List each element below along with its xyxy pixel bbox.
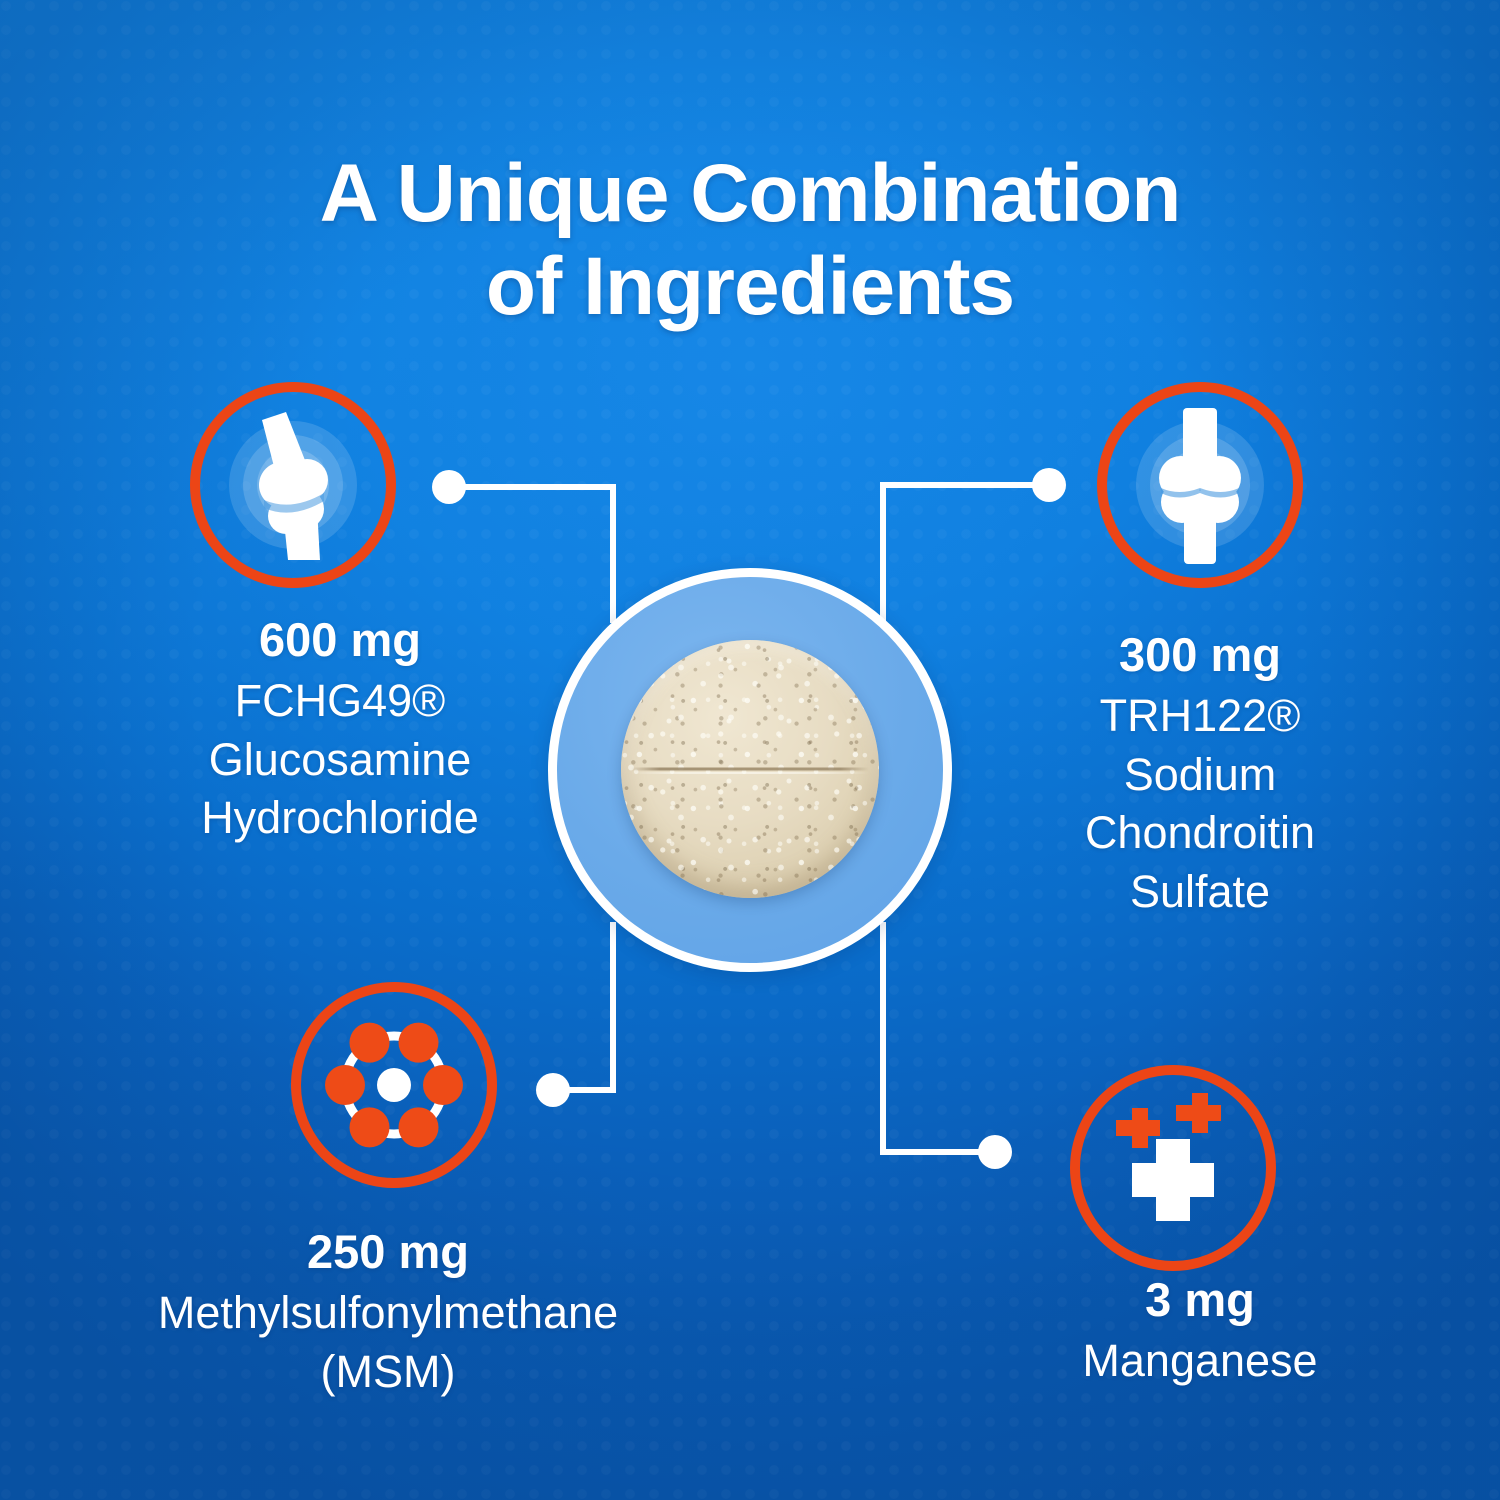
dose-chondroitin: 300 mg (930, 625, 1470, 685)
name-manganese-line-1: Manganese (940, 1332, 1460, 1391)
bone-joint-icon (1107, 392, 1293, 578)
badge-glucosamine (190, 382, 396, 588)
badge-msm (291, 982, 497, 1188)
badge-chondroitin (1097, 382, 1303, 588)
connector-dot-chondroitin (1032, 468, 1066, 502)
label-manganese: 3 mg Manganese (940, 1270, 1460, 1391)
dose-manganese: 3 mg (940, 1270, 1460, 1330)
medical-cross-icon (1080, 1075, 1266, 1261)
connector-dot-manganese (978, 1135, 1012, 1169)
label-chondroitin: 300 mg TRH122® Sodium Chondroitin Sulfat… (930, 625, 1470, 921)
name-chondroitin-line-4: Sulfate (930, 863, 1470, 922)
connector-dot-glucosamine (432, 470, 466, 504)
name-glucosamine-line-1: FCHG49® (40, 672, 640, 731)
ingredients-infographic: A Unique Combination of Ingredients (0, 0, 1500, 1500)
molecule-icon (301, 992, 487, 1178)
knee-joint-icon (200, 392, 386, 578)
name-chondroitin-line-3: Chondroitin (930, 804, 1470, 863)
name-glucosamine-line-3: Hydrochloride (40, 789, 640, 848)
tablet-score-line (631, 768, 868, 771)
name-chondroitin-line-2: Sodium (930, 746, 1470, 805)
dose-glucosamine: 600 mg (40, 610, 640, 670)
dose-msm: 250 mg (38, 1222, 738, 1282)
supplement-tablet-icon (621, 640, 879, 898)
name-chondroitin-line-1: TRH122® (930, 687, 1470, 746)
connector-dot-msm (536, 1073, 570, 1107)
label-msm: 250 mg Methylsulfonylmethane (MSM) (38, 1222, 738, 1401)
badge-manganese (1070, 1065, 1276, 1271)
tablet-score-highlight (631, 772, 868, 774)
label-glucosamine: 600 mg FCHG49® Glucosamine Hydrochloride (40, 610, 640, 848)
name-msm-line-2: (MSM) (38, 1343, 738, 1402)
name-glucosamine-line-2: Glucosamine (40, 731, 640, 790)
name-msm-line-1: Methylsulfonylmethane (38, 1284, 738, 1343)
